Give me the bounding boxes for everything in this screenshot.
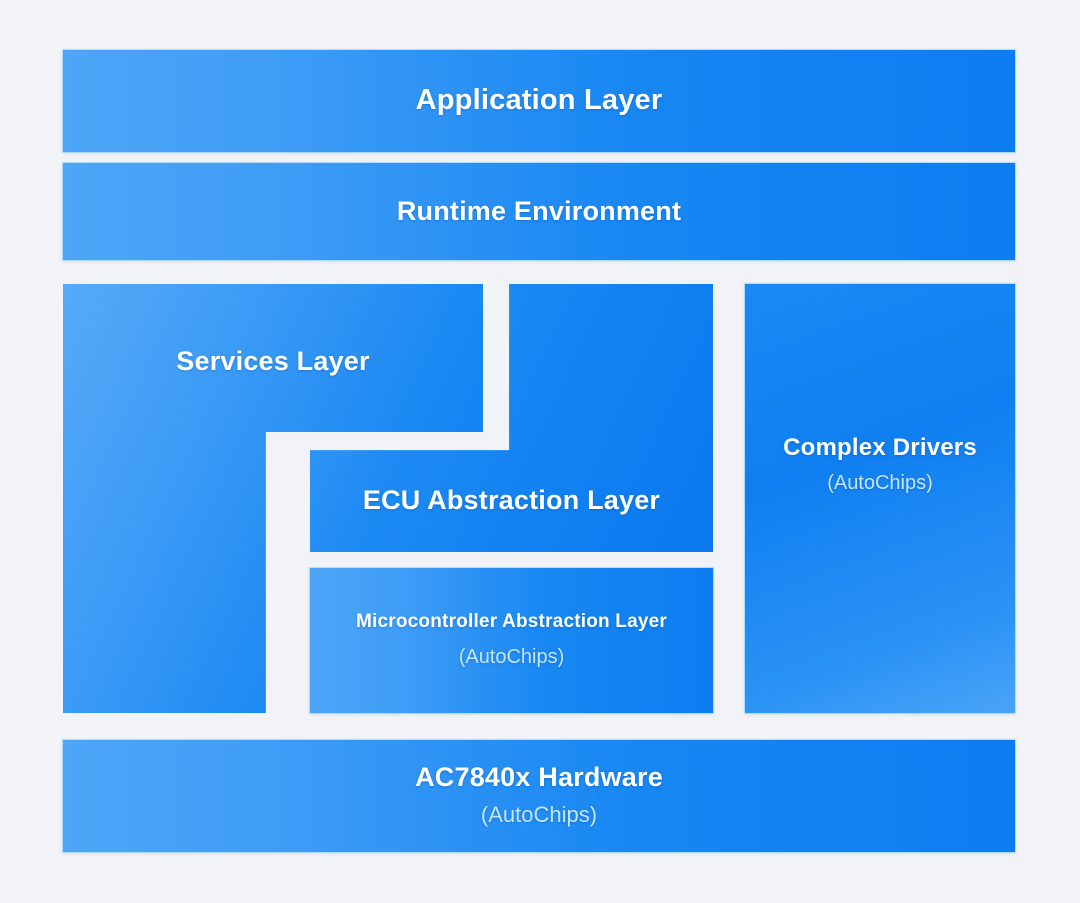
services-layer-label: Services Layer (63, 346, 483, 377)
runtime-environment-label: Runtime Environment (397, 196, 681, 227)
complex-drivers-vendor: (AutoChips) (745, 470, 1015, 496)
mcal-layer-vendor: (AutoChips) (459, 644, 565, 670)
hardware-layer-label: AC7840x Hardware (415, 762, 663, 793)
layer-block-application: Application Layer (63, 50, 1015, 152)
layer-block-hardware: AC7840x Hardware (AutoChips) (63, 740, 1015, 852)
autosar-layered-architecture-diagram: Application Layer Runtime Environment Se… (0, 0, 1080, 903)
complex-drivers-text-stack: Complex Drivers (AutoChips) (745, 434, 1015, 496)
complex-drivers-label: Complex Drivers (745, 434, 1015, 462)
layer-block-complex-drivers: Complex Drivers (AutoChips) (745, 284, 1015, 713)
mcal-layer-label: Microcontroller Abstraction Layer (356, 611, 667, 633)
application-layer-label: Application Layer (416, 84, 663, 117)
ecu-abstraction-layer-label: ECU Abstraction Layer (310, 485, 713, 516)
layer-block-microcontroller-abstraction: Microcontroller Abstraction Layer (AutoC… (310, 568, 713, 713)
hardware-layer-vendor: (AutoChips) (481, 801, 597, 830)
layer-block-runtime-environment: Runtime Environment (63, 163, 1015, 260)
